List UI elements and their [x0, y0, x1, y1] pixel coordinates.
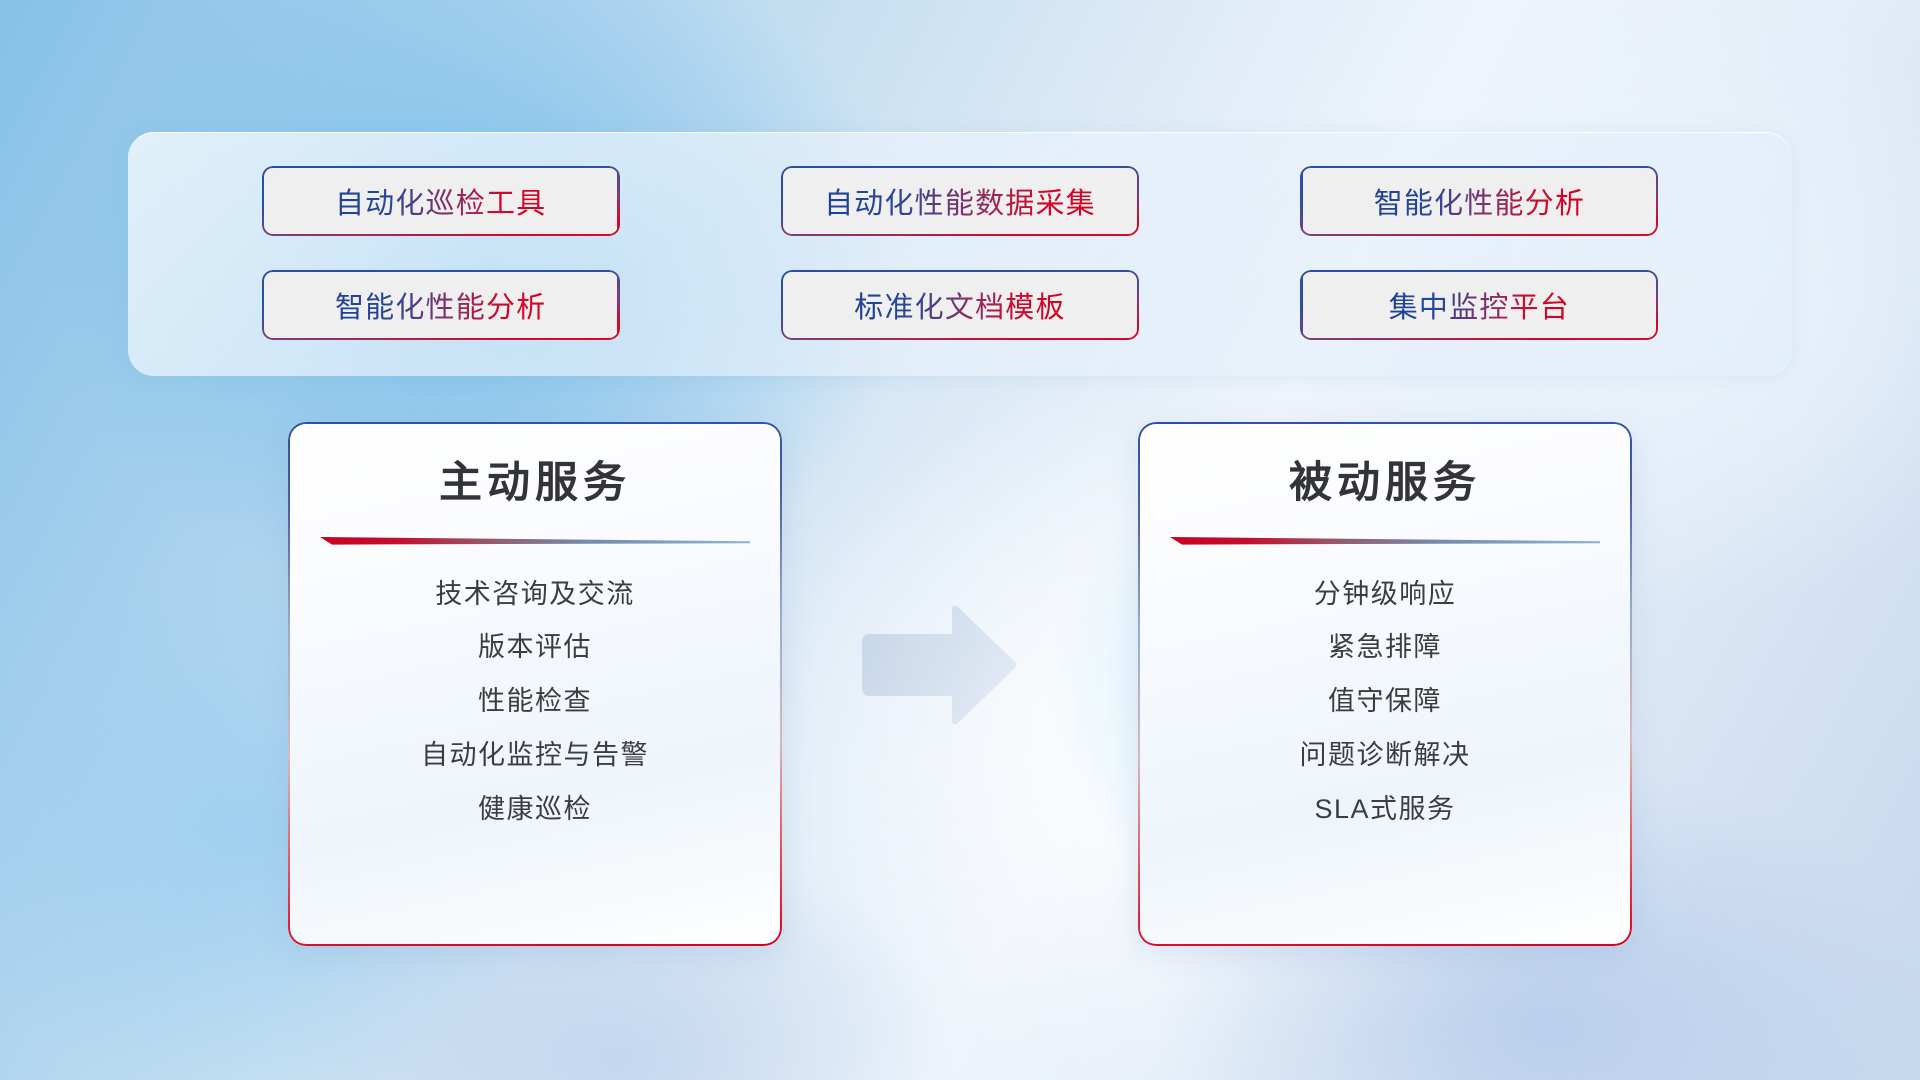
capability-panel: 自动化巡检工具 自动化性能数据采集 智能化性能分析 智能化性能分析 标准化文档模…	[128, 132, 1792, 376]
list-item: 自动化监控与告警	[421, 739, 649, 773]
title-divider	[320, 534, 750, 548]
capability-pill-label: 自动化巡检工具	[335, 180, 546, 222]
service-card-list: 技术咨询及交流 版本评估 性能检查 自动化监控与告警 健康巡检	[318, 578, 752, 827]
service-card-title: 被动服务	[1289, 458, 1481, 510]
title-divider	[1170, 534, 1600, 548]
capability-pill-label: 自动化性能数据采集	[824, 180, 1096, 222]
service-card-list: 分钟级响应 紧急排障 值守保障 问题诊断解决 SLA式服务	[1168, 578, 1602, 827]
service-card-body: 主动服务 技术咨询及交流 版本评估 性能检查 自动化监控与告警	[288, 422, 782, 946]
list-item: 分钟级响应	[1314, 578, 1457, 612]
service-card-reactive: 被动服务 分钟级响应 紧急排障 值守保障 问题诊断解决	[1138, 422, 1632, 946]
capability-pill-grid: 自动化巡检工具 自动化性能数据采集 智能化性能分析 智能化性能分析 标准化文档模…	[128, 132, 1792, 376]
capability-pill-automated-performance-data-collection[interactable]: 自动化性能数据采集	[781, 166, 1139, 236]
list-item: 值守保障	[1328, 685, 1442, 719]
capability-pill-label: 智能化性能分析	[335, 284, 546, 326]
gradient-divider-icon	[320, 534, 750, 548]
capability-pill-standardized-document-template[interactable]: 标准化文档模板	[781, 270, 1139, 340]
gradient-divider-icon	[1170, 534, 1600, 548]
capability-pill-intelligent-performance-analysis-bottom[interactable]: 智能化性能分析	[262, 270, 620, 340]
capability-pill-label: 智能化性能分析	[1374, 180, 1585, 222]
service-card-title: 主动服务	[439, 458, 631, 510]
capability-pill-label: 标准化文档模板	[854, 284, 1065, 326]
list-item: 性能检查	[478, 685, 592, 719]
list-item: SLA式服务	[1314, 793, 1455, 827]
arrow-right-icon	[858, 604, 1018, 736]
list-item: 技术咨询及交流	[435, 578, 635, 612]
capability-pill-label: 集中监控平台	[1389, 284, 1570, 326]
capability-pill-centralized-monitoring-platform[interactable]: 集中监控平台	[1300, 270, 1658, 340]
list-item: 健康巡检	[478, 793, 592, 827]
service-card-proactive: 主动服务 技术咨询及交流 版本评估 性能检查 自动化监控与告警	[288, 422, 782, 946]
service-card-body: 被动服务 分钟级响应 紧急排障 值守保障 问题诊断解决	[1138, 422, 1632, 946]
arrow-right-glyph	[858, 604, 1018, 736]
list-item: 紧急排障	[1328, 631, 1442, 665]
capability-pill-automated-inspection-tool[interactable]: 自动化巡检工具	[262, 166, 620, 236]
list-item: 问题诊断解决	[1300, 739, 1471, 773]
list-item: 版本评估	[478, 631, 592, 665]
capability-pill-intelligent-performance-analysis-top[interactable]: 智能化性能分析	[1300, 166, 1658, 236]
